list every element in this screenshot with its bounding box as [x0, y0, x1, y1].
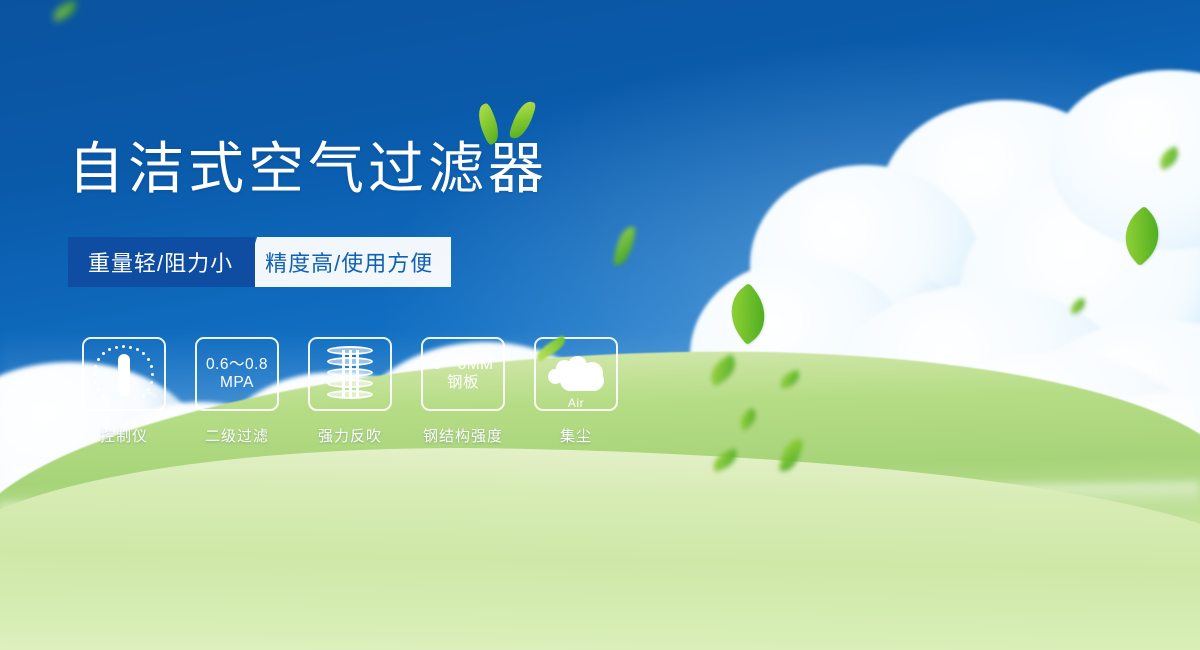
- feature-icon-box: [308, 337, 392, 411]
- coil-blowback-icon: [327, 346, 373, 402]
- steel-line-2: 钢板: [432, 374, 493, 392]
- feature-caption: 集尘: [560, 425, 592, 446]
- feature-icon-box: 0.6～0.8 MPA: [195, 337, 279, 411]
- leaf-icon: [613, 225, 635, 267]
- cloud-air-icon: Air: [546, 355, 606, 393]
- feature-item-controller[interactable]: NO OFF 控制仪: [82, 337, 166, 446]
- pressure-text-icon: 0.6～0.8 MPA: [206, 356, 268, 392]
- gauge-icon: NO OFF: [93, 345, 155, 403]
- leaf-icon: [1112, 206, 1173, 267]
- cloud-air-label: Air: [546, 396, 606, 410]
- gauge-pointer-icon: [118, 354, 130, 396]
- leaf-icon: [1068, 298, 1087, 315]
- subtitle-left: 重量轻/阻力小: [68, 237, 255, 287]
- steel-line-1: 3～8MM: [432, 356, 493, 374]
- feature-item-pressure[interactable]: 0.6～0.8 MPA 二级过滤: [195, 337, 279, 446]
- pressure-line-1: 0.6～0.8: [206, 356, 268, 374]
- pressure-line-2: MPA: [206, 374, 268, 392]
- subtitle-banner: 重量轻/阻力小 精度高/使用方便: [68, 237, 451, 287]
- leaf-icon: [50, 0, 79, 22]
- feature-caption: 强力反吹: [318, 425, 382, 446]
- feature-list: NO OFF 控制仪 0.6～0.8 MPA 二级过滤: [82, 337, 618, 446]
- gauge-label-off: OFF: [143, 389, 157, 402]
- page-title: 自洁式空气过滤器: [68, 140, 548, 199]
- sprout-leaves-icon: [476, 98, 546, 148]
- feature-icon-box: 3～8MM 钢板: [421, 337, 505, 411]
- feature-item-dust[interactable]: Air 集尘: [534, 337, 618, 446]
- steel-plate-text-icon: 3～8MM 钢板: [432, 356, 493, 392]
- feature-caption: 二级过滤: [205, 425, 269, 446]
- leaf-icon: [534, 335, 569, 362]
- feature-item-blowback[interactable]: 强力反吹: [308, 337, 392, 446]
- subtitle-right: 精度高/使用方便: [241, 237, 451, 287]
- leaf-icon: [717, 283, 778, 345]
- feature-caption: 钢结构强度: [423, 425, 503, 446]
- leaf-icon: [1156, 146, 1183, 170]
- hero-banner: 自洁式空气过滤器 重量轻/阻力小 精度高/使用方便: [0, 0, 1200, 650]
- gauge-label-no: NO: [93, 365, 102, 376]
- feature-icon-box: NO OFF: [82, 337, 166, 411]
- feature-item-steel[interactable]: 3～8MM 钢板 钢结构强度: [421, 337, 505, 446]
- feature-icon-box: Air: [534, 337, 618, 411]
- feature-caption: 控制仪: [100, 425, 148, 446]
